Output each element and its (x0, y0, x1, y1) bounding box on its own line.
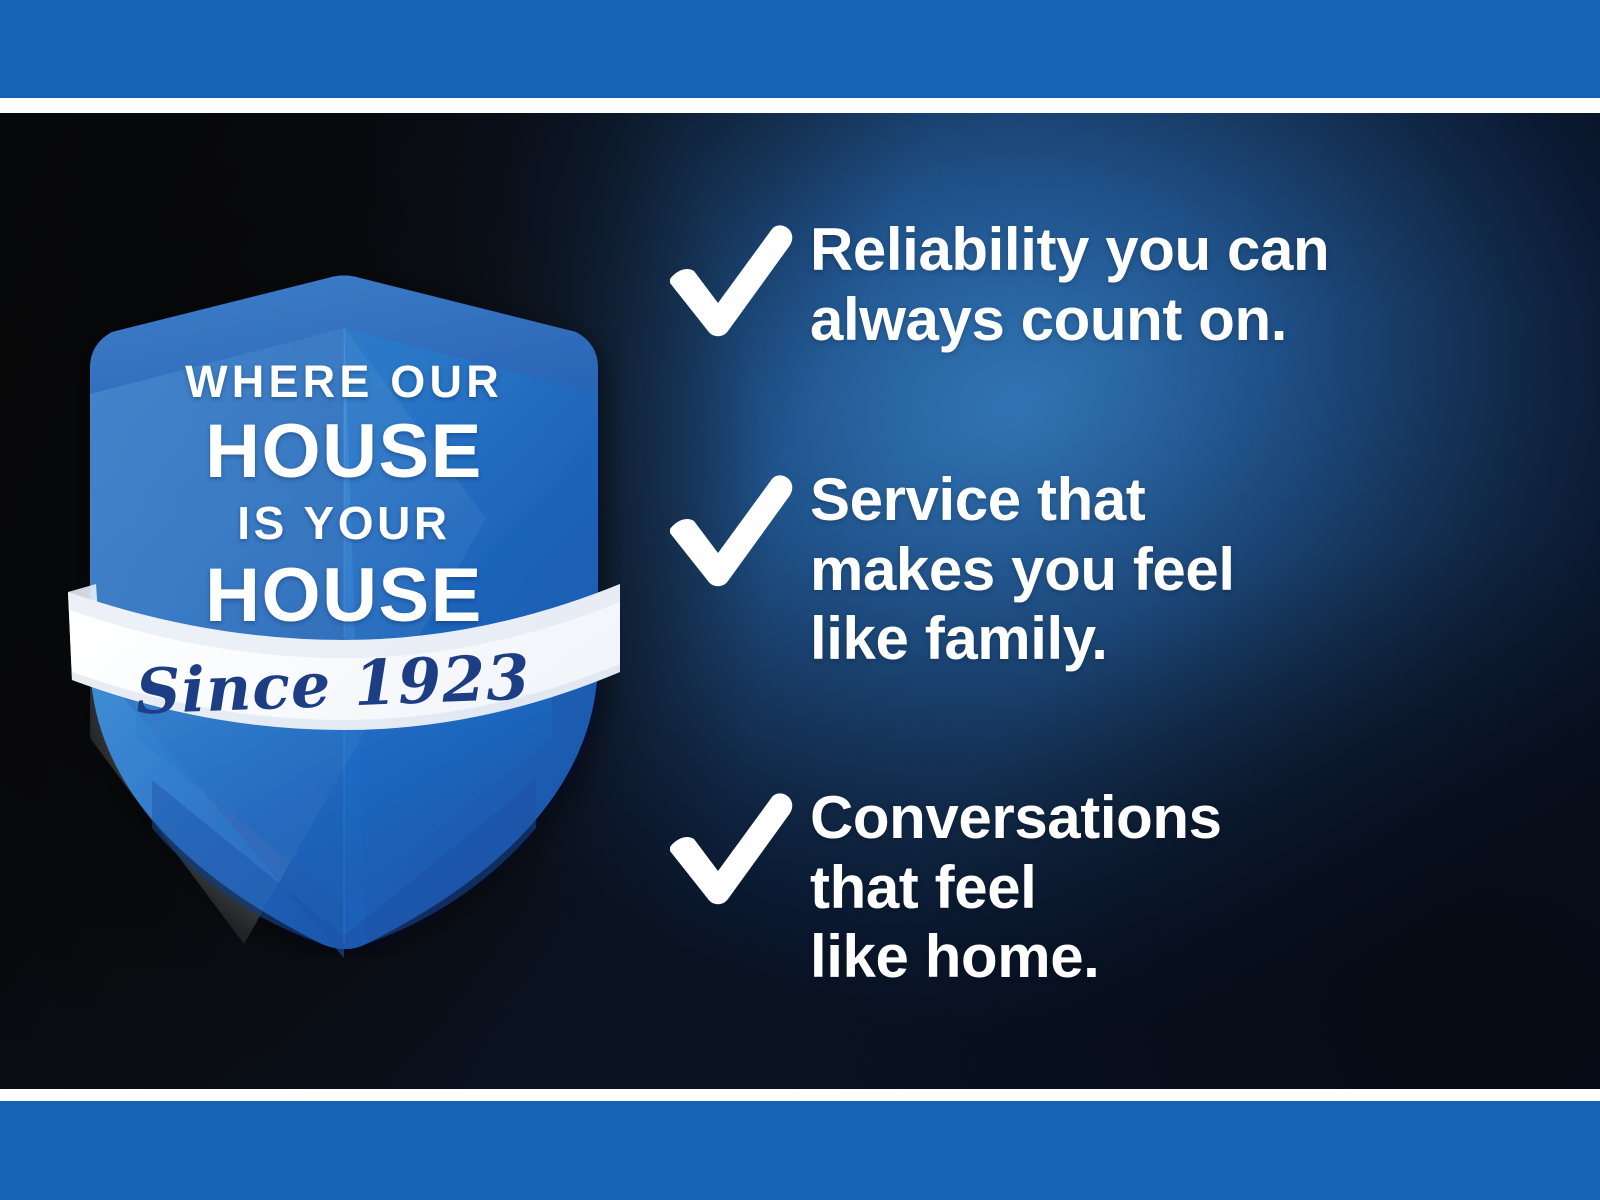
benefit-text-2: Service that makes you feel like family. (810, 465, 1560, 674)
bottom-divider-rule (0, 1089, 1600, 1101)
top-divider-rule (0, 98, 1600, 113)
benefit-item-3: Conversations that feel like home. (660, 783, 1560, 992)
benefit-item-1: Reliability you can always count on. (660, 215, 1560, 354)
benefit-line: like home. (810, 922, 1560, 992)
benefit-text-3: Conversations that feel like home. (810, 783, 1560, 992)
benefit-line: that feel (810, 853, 1560, 923)
checkmark-icon (660, 783, 810, 907)
benefit-text-1: Reliability you can always count on. (810, 215, 1560, 354)
benefits-list: Reliability you can always count on. Ser… (660, 113, 1560, 1089)
benefit-line: Service that (810, 465, 1560, 535)
checkmark-icon (660, 465, 810, 589)
checkmark-icon (660, 215, 810, 339)
benefit-line: Reliability you can (810, 215, 1560, 285)
company-crest-logo (66, 268, 622, 958)
benefit-line: like family. (810, 604, 1560, 674)
promo-graphic: WHERE OUR HOUSE IS YOUR HOUSE Since 1923… (0, 0, 1600, 1200)
benefit-item-2: Service that makes you feel like family. (660, 465, 1560, 674)
benefit-line: makes you feel (810, 535, 1560, 605)
top-brand-bar (0, 0, 1600, 98)
bottom-brand-bar (0, 1101, 1600, 1200)
benefit-line: always count on. (810, 285, 1560, 355)
benefit-line: Conversations (810, 783, 1560, 853)
